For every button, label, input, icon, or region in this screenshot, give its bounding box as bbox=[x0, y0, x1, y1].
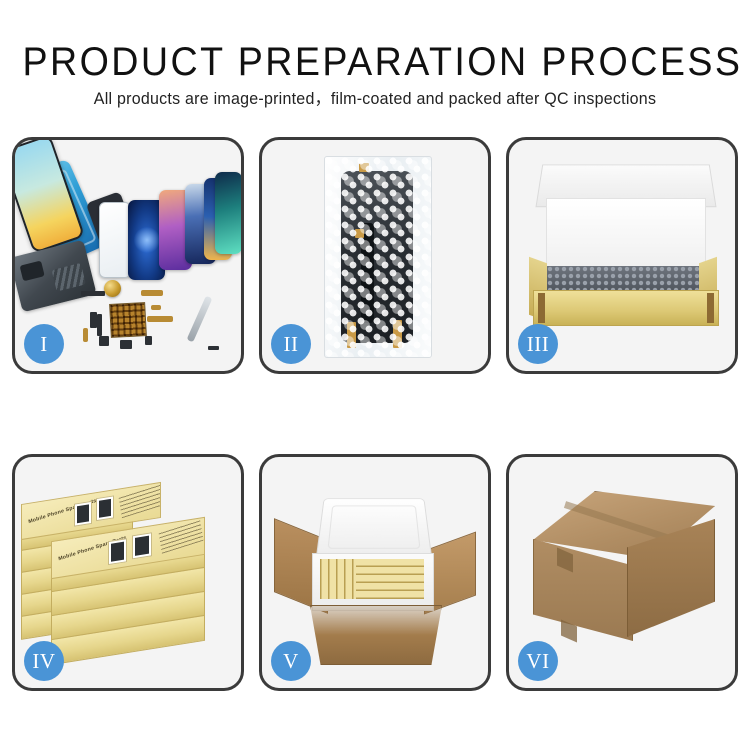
product-photo-swatch bbox=[96, 495, 114, 521]
flex-cable-icon bbox=[141, 290, 163, 296]
screwdriver-icon bbox=[187, 296, 213, 343]
page-subtitle: All products are image-printed，film-coat… bbox=[11, 88, 739, 110]
box-spec-lines bbox=[159, 519, 204, 553]
process-step-panel-4: Mobile Phone Spare Parts Mobile Phone Sp… bbox=[12, 454, 244, 691]
part-bar-icon bbox=[99, 336, 109, 346]
box-front-icon bbox=[533, 290, 719, 326]
step-badge-1: I bbox=[24, 324, 64, 364]
box-spec-lines bbox=[119, 484, 161, 518]
flex-cable-icon bbox=[83, 328, 88, 342]
part-bar-icon bbox=[120, 340, 132, 349]
step-badge-6: VI bbox=[518, 641, 558, 681]
part-bar-icon bbox=[97, 314, 102, 336]
step-badge-4: IV bbox=[24, 641, 64, 681]
step-badge-3: III bbox=[518, 324, 558, 364]
process-step-panel-5: V bbox=[259, 454, 491, 691]
styrofoam-lid-icon bbox=[316, 498, 432, 558]
phone-back-housing-icon bbox=[15, 240, 97, 313]
product-photo-swatch bbox=[132, 532, 152, 559]
process-step-panel-1: I bbox=[12, 137, 244, 374]
process-step-grid: I II III bbox=[12, 137, 738, 737]
carton-front-icon bbox=[310, 605, 442, 665]
process-step-panel-2: II bbox=[259, 137, 491, 374]
chip-grid-icon bbox=[109, 302, 147, 338]
part-bar-icon bbox=[208, 346, 219, 350]
camera-ring-icon bbox=[104, 280, 121, 297]
part-bar-icon bbox=[81, 291, 105, 296]
flex-cable-icon bbox=[151, 305, 161, 310]
page-header: PRODUCT PREPARATION PROCESS All products… bbox=[0, 0, 750, 130]
bubble-wrap-bag-icon bbox=[324, 156, 432, 358]
carton-left-icon bbox=[533, 539, 633, 641]
foam-sheet-icon bbox=[546, 198, 706, 270]
step-badge-2: II bbox=[271, 324, 311, 364]
part-bar-icon bbox=[145, 336, 152, 345]
page-title: PRODUCT PREPARATION PROCESS bbox=[23, 40, 728, 84]
product-photo-swatch bbox=[108, 538, 127, 565]
part-bar-icon bbox=[90, 312, 97, 328]
process-step-panel-3: III bbox=[506, 137, 738, 374]
tempered-glass-icon bbox=[99, 202, 131, 278]
packed-boxes-icon bbox=[320, 559, 424, 599]
step-badge-5: V bbox=[271, 641, 311, 681]
bubble-texture-icon bbox=[325, 157, 431, 357]
flex-cable-icon bbox=[147, 316, 173, 322]
phone-teal-icon bbox=[215, 172, 241, 254]
process-step-panel-6: VI bbox=[506, 454, 738, 691]
product-photo-swatch bbox=[74, 501, 92, 527]
